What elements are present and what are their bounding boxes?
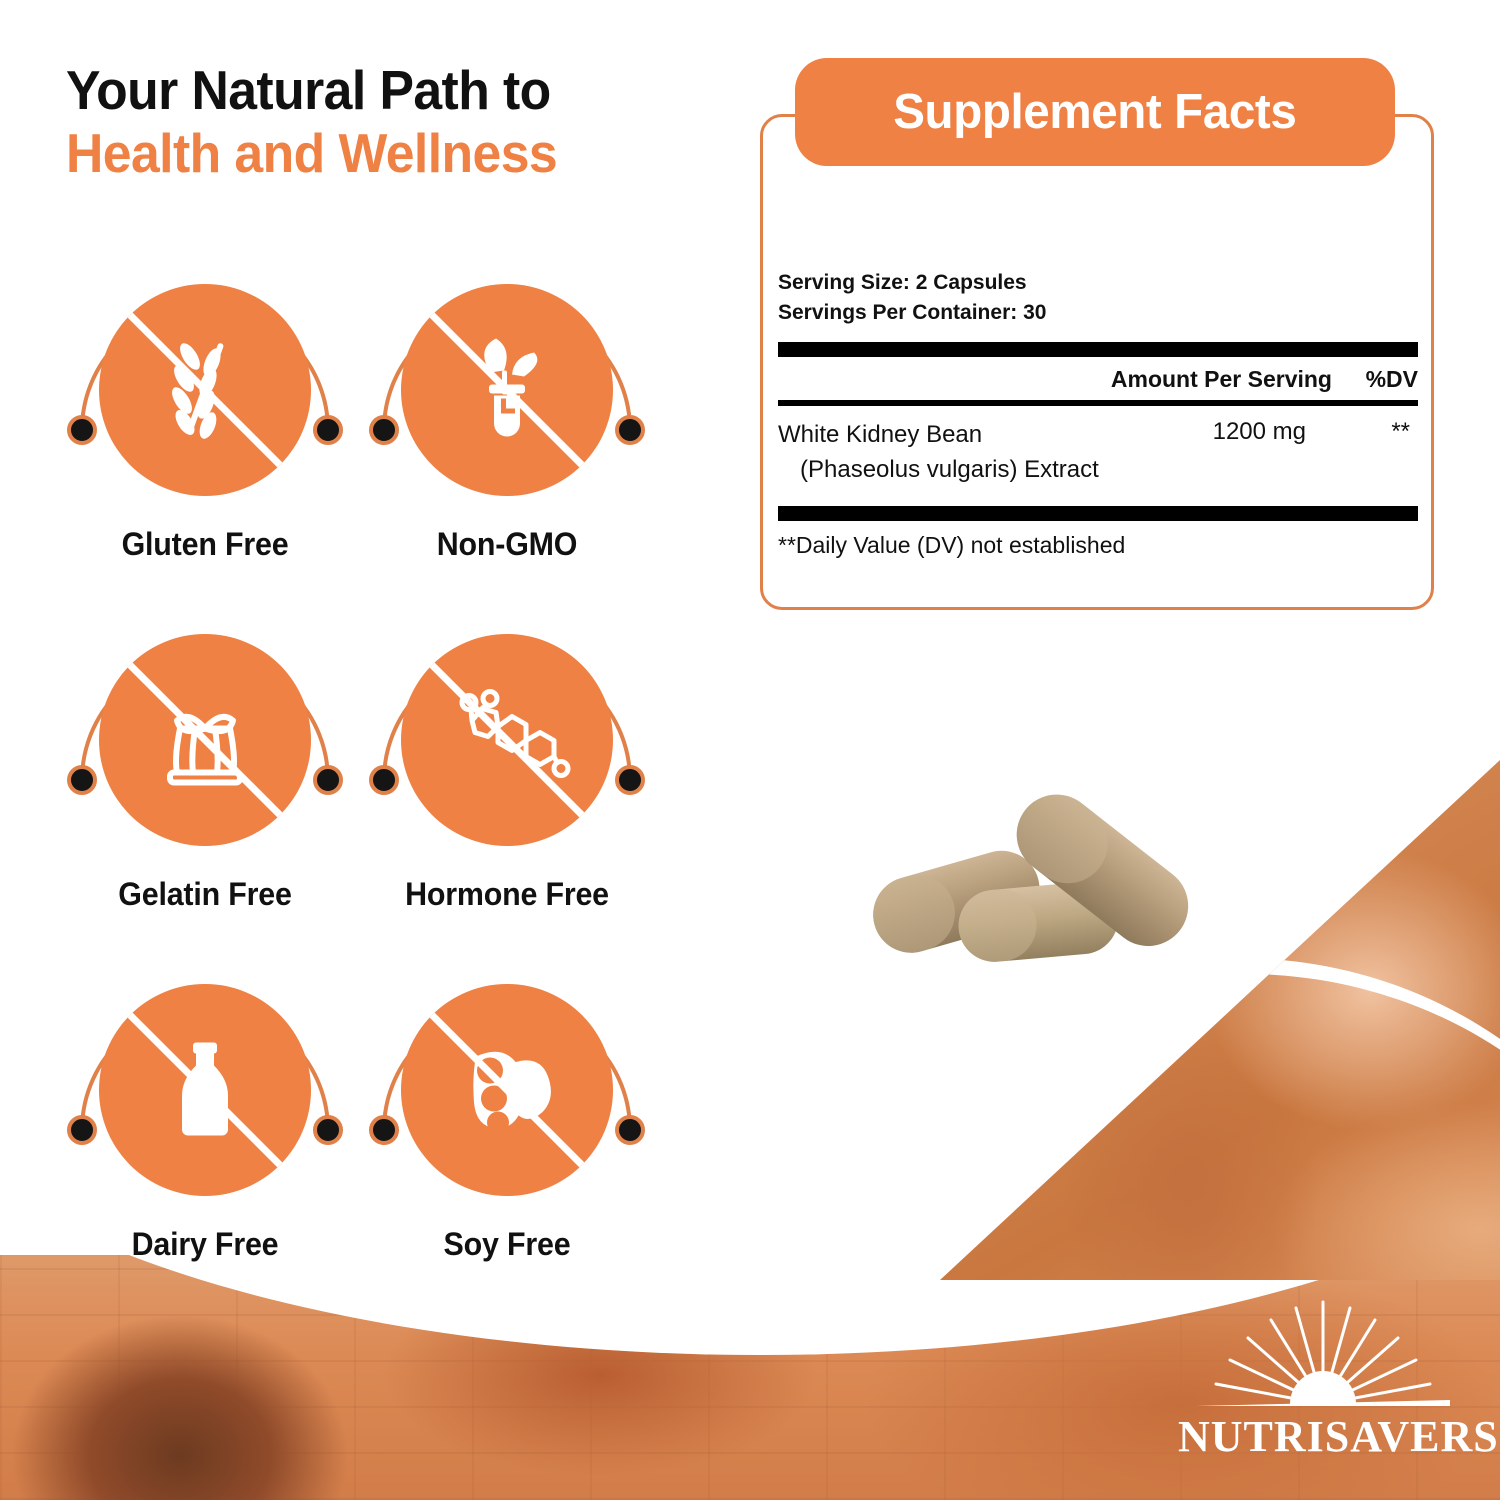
badge-soy-free: Soy Free: [362, 958, 652, 1308]
headline-line-2: Health and Wellness: [66, 125, 686, 182]
page-title: Your Natural Path to Health and Wellness: [66, 62, 726, 181]
badge-circle: [99, 984, 311, 1196]
ingredient-name: White Kidney Bean: [778, 421, 982, 448]
badge-gelatin-free: Gelatin Free: [60, 608, 350, 958]
supplement-facts-header: Supplement Facts: [795, 58, 1395, 166]
column-header-dv: %DV: [1352, 366, 1418, 393]
ingredient-subname: (Phaseolus vulgaris) Extract: [778, 453, 1418, 488]
brand-name: NUTRISAVERS: [1178, 1411, 1468, 1462]
badge-dairy-free: Dairy Free: [60, 958, 350, 1308]
badge-label: Hormone Free: [369, 876, 645, 913]
daily-value-footnote: **Daily Value (DV) not established: [778, 521, 1418, 559]
ingredient-dv: **: [1391, 418, 1410, 446]
badge-circle: [401, 284, 613, 496]
badge-label: Non-GMO: [369, 526, 645, 563]
badge-circle: [99, 634, 311, 846]
brand-logo: NUTRISAVERS: [1178, 1296, 1468, 1476]
servings-per-container: Servings Per Container: 30: [778, 298, 1418, 328]
badge-circle: [99, 284, 311, 496]
badge-label: Gluten Free: [67, 526, 343, 563]
badge-label: Dairy Free: [67, 1226, 343, 1263]
badge-label: Soy Free: [369, 1226, 645, 1263]
certification-badge-grid: Gluten Free: [60, 258, 680, 1308]
infographic-canvas: Your Natural Path to Health and Wellness: [0, 0, 1500, 1500]
badge-gluten-free: Gluten Free: [60, 258, 350, 608]
supplement-facts-table: Serving Size: 2 Capsules Servings Per Co…: [778, 160, 1418, 559]
column-header-amount: Amount Per Serving: [1111, 366, 1332, 393]
supplement-facts-title: Supplement Facts: [893, 84, 1296, 140]
badge-hormone-free: Hormone Free: [362, 608, 652, 958]
badge-non-gmo: Non-GMO: [362, 258, 652, 608]
supplement-capsules-photo: [848, 768, 1248, 988]
ingredient-amount: 1200 mg: [1213, 418, 1306, 446]
table-bottom-bar: [778, 506, 1418, 521]
badge-label: Gelatin Free: [67, 876, 343, 913]
badge-circle: [401, 634, 613, 846]
table-row: White Kidney Bean (Phaseolus vulgaris) E…: [778, 406, 1418, 506]
headline-line-1: Your Natural Path to: [66, 62, 686, 119]
table-top-bar: [778, 342, 1418, 357]
badge-circle: [401, 984, 613, 1196]
serving-size: Serving Size: 2 Capsules: [778, 268, 1418, 298]
